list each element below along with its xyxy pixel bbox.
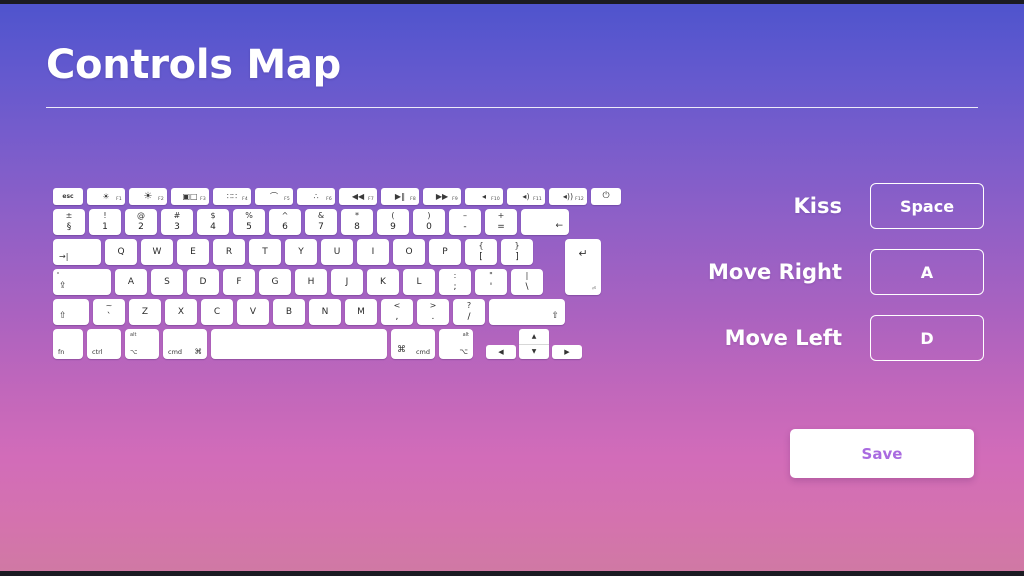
key-f9-label: F9 bbox=[452, 198, 458, 203]
key-f6-label: F6 bbox=[326, 198, 332, 203]
key-bracket-left-upper: { bbox=[478, 242, 483, 250]
key-alt-left[interactable]: alt ⌥ bbox=[125, 329, 159, 359]
key-8[interactable]: * 8 bbox=[341, 209, 373, 235]
key-f4-launchpad[interactable]: ∷∷ F4 bbox=[213, 188, 251, 205]
key-fn[interactable]: fn bbox=[53, 329, 83, 359]
key-alt-right[interactable]: alt ⌥ bbox=[439, 329, 473, 359]
key-f7-label: F7 bbox=[368, 198, 374, 203]
binding-row-move-left: Move Left D bbox=[640, 315, 984, 361]
tab-icon: →| bbox=[59, 253, 68, 261]
key-d-label: D bbox=[200, 278, 207, 287]
key-s-label: S bbox=[164, 278, 170, 287]
key-7-lower: 7 bbox=[318, 223, 324, 232]
keyboard-row-zxcv: ⇧ ~ ` Z X C V B N M < , bbox=[53, 299, 601, 325]
key-f10-mute[interactable]: ◂ F10 bbox=[465, 188, 503, 205]
key-f11-label: F11 bbox=[533, 198, 542, 203]
arrow-right-icon: ▶ bbox=[564, 348, 569, 356]
key-7-upper: & bbox=[318, 212, 324, 220]
key-equals-lower: = bbox=[497, 223, 505, 232]
keyboard-row-numbers: ± § ! 1 @ 2 # 3 bbox=[53, 209, 601, 235]
key-w[interactable]: W bbox=[141, 239, 173, 265]
key-i-label: I bbox=[372, 248, 375, 257]
key-k-label: K bbox=[380, 278, 386, 287]
arrow-down-icon: ▼ bbox=[532, 348, 537, 355]
key-bracket-left-lower: [ bbox=[479, 253, 483, 262]
key-m[interactable]: M bbox=[345, 299, 377, 325]
mute-icon: ◂ bbox=[482, 193, 486, 201]
key-3-upper: # bbox=[174, 212, 181, 220]
key-8-upper: * bbox=[355, 212, 359, 220]
key-n[interactable]: N bbox=[309, 299, 341, 325]
key-period-upper: > bbox=[430, 302, 437, 310]
key-r[interactable]: R bbox=[213, 239, 245, 265]
backspace-icon: ← bbox=[555, 222, 563, 231]
key-q-label: Q bbox=[117, 248, 124, 257]
key-cmd-right-label: cmd bbox=[416, 349, 430, 356]
key-ctrl[interactable]: ctrl bbox=[87, 329, 121, 359]
key-a-label: A bbox=[128, 278, 134, 287]
key-0-lower: 0 bbox=[426, 223, 432, 232]
key-b-label: B bbox=[286, 308, 292, 317]
key-arrow-down[interactable]: ▼ bbox=[519, 345, 549, 360]
key-minus-lower: - bbox=[463, 223, 466, 232]
binding-label-kiss: Kiss bbox=[794, 194, 842, 218]
key-period-lower: . bbox=[432, 313, 435, 322]
key-section-upper: ± bbox=[66, 212, 73, 220]
key-cmd-right[interactable]: ⌘ cmd bbox=[391, 329, 435, 359]
key-semicolon-upper: : bbox=[454, 272, 457, 280]
key-6-upper: ^ bbox=[282, 212, 289, 220]
key-bracket-right-upper: } bbox=[514, 242, 519, 250]
key-bracket-right[interactable]: } ] bbox=[501, 239, 533, 265]
key-j[interactable]: J bbox=[331, 269, 363, 295]
key-semicolon-lower: ; bbox=[453, 283, 456, 292]
keyboard-diagram: esc ☀ F1 ☀ F2 ▣□ F3 bbox=[53, 188, 601, 359]
key-g-label: G bbox=[272, 278, 279, 287]
key-9-lower: 9 bbox=[390, 223, 396, 232]
alt-left-icon: ⌥ bbox=[130, 349, 138, 356]
key-6[interactable]: ^ 6 bbox=[269, 209, 301, 235]
shift-right-icon: ⇧ bbox=[551, 312, 559, 321]
binding-row-move-right: Move Right A bbox=[640, 249, 984, 295]
key-shift-left[interactable]: ⇧ bbox=[53, 299, 89, 325]
key-enter[interactable]: ↵ ⏎ bbox=[565, 239, 601, 295]
key-slash-lower: / bbox=[467, 313, 470, 322]
fast-forward-icon: ▶▶ bbox=[436, 193, 448, 201]
key-k[interactable]: K bbox=[367, 269, 399, 295]
key-3-lower: 3 bbox=[174, 223, 180, 232]
key-a[interactable]: A bbox=[115, 269, 147, 295]
key-j-label: J bbox=[346, 278, 349, 287]
key-ctrl-label: ctrl bbox=[92, 349, 103, 356]
key-2-upper: @ bbox=[137, 212, 145, 220]
volume-down-icon: ◂) bbox=[522, 193, 529, 201]
key-z[interactable]: Z bbox=[129, 299, 161, 325]
key-f1-label: F1 bbox=[116, 198, 122, 203]
keyboard-row-home: ⇪ A S D F G H J K L : ; " ' bbox=[53, 269, 601, 295]
key-minus[interactable]: – - bbox=[449, 209, 481, 235]
arrow-left-icon: ◀ bbox=[498, 348, 503, 356]
key-u[interactable]: U bbox=[321, 239, 353, 265]
key-cmd-left[interactable]: cmd ⌘ bbox=[163, 329, 207, 359]
key-1-lower: 1 bbox=[102, 223, 108, 232]
key-backtick-upper: ~ bbox=[106, 302, 113, 310]
keyboard-row-qwerty: →| Q W E R T Y U I O P { [ } ] bbox=[53, 239, 601, 265]
key-y-label: Y bbox=[298, 248, 304, 257]
key-space[interactable] bbox=[211, 329, 387, 359]
rewind-icon: ◀◀ bbox=[352, 193, 364, 201]
key-9[interactable]: ( 9 bbox=[377, 209, 409, 235]
key-minus-upper: – bbox=[463, 212, 467, 220]
key-f5-keyboard-light-down[interactable]: ⌒ F5 bbox=[255, 188, 293, 205]
key-f9-fast-forward[interactable]: ▶▶ F9 bbox=[423, 188, 461, 205]
key-5[interactable]: % 5 bbox=[233, 209, 265, 235]
key-4[interactable]: $ 4 bbox=[197, 209, 229, 235]
key-e[interactable]: E bbox=[177, 239, 209, 265]
key-l[interactable]: L bbox=[403, 269, 435, 295]
key-quote[interactable]: " ' bbox=[475, 269, 507, 295]
key-shift-right[interactable]: ⇧ bbox=[489, 299, 565, 325]
binding-key-move-left[interactable]: D bbox=[870, 315, 984, 361]
key-z-label: Z bbox=[142, 308, 148, 317]
key-i[interactable]: I bbox=[357, 239, 389, 265]
key-equals[interactable]: + = bbox=[485, 209, 517, 235]
key-backtick-lower: ` bbox=[107, 313, 112, 322]
key-0[interactable]: ) 0 bbox=[413, 209, 445, 235]
key-backtick[interactable]: ~ ` bbox=[93, 299, 125, 325]
key-f12-volume-up[interactable]: ◂)) F12 bbox=[549, 188, 587, 205]
key-equals-upper: + bbox=[498, 212, 505, 220]
key-y[interactable]: Y bbox=[285, 239, 317, 265]
key-5-upper: % bbox=[245, 212, 253, 220]
key-cmd-left-label: cmd bbox=[168, 349, 182, 356]
binding-key-kiss[interactable]: Space bbox=[870, 183, 984, 229]
key-period[interactable]: > . bbox=[417, 299, 449, 325]
alt-right-icon: ⌥ bbox=[459, 348, 468, 356]
keyboard-backlight-high-icon: ∴ bbox=[313, 193, 318, 201]
key-e-label: E bbox=[190, 248, 196, 257]
key-6-lower: 6 bbox=[282, 223, 288, 232]
key-t[interactable]: T bbox=[249, 239, 281, 265]
key-v[interactable]: V bbox=[237, 299, 269, 325]
cmd-right-icon: ⌘ bbox=[397, 346, 406, 355]
key-w-label: W bbox=[153, 248, 162, 257]
brightness-low-icon: ☀ bbox=[102, 193, 109, 201]
key-f2-label: F2 bbox=[158, 198, 164, 203]
key-h[interactable]: H bbox=[295, 269, 327, 295]
key-v-label: V bbox=[250, 308, 256, 317]
power-icon: ⏻ bbox=[602, 192, 609, 201]
key-f5-label: F5 bbox=[284, 198, 290, 203]
key-4-lower: 4 bbox=[210, 223, 216, 232]
key-quote-lower: ' bbox=[490, 283, 492, 292]
shift-left-icon: ⇧ bbox=[59, 312, 67, 321]
key-capslock[interactable]: ⇪ bbox=[53, 269, 111, 295]
keyboard-row-function: esc ☀ F1 ☀ F2 ▣□ F3 bbox=[53, 188, 601, 205]
key-esc[interactable]: esc bbox=[53, 188, 83, 205]
binding-label-move-right: Move Right bbox=[708, 260, 842, 284]
key-arrow-left[interactable]: ◀ bbox=[486, 345, 516, 359]
key-section[interactable]: ± § bbox=[53, 209, 85, 235]
key-f2-brightness-up[interactable]: ☀ F2 bbox=[129, 188, 167, 205]
key-o-label: O bbox=[405, 248, 412, 257]
play-pause-icon: ▶‖ bbox=[395, 193, 405, 201]
key-alt-right-top-label: alt bbox=[463, 333, 469, 338]
key-bracket-right-lower: ] bbox=[515, 253, 519, 262]
key-s[interactable]: S bbox=[151, 269, 183, 295]
key-7[interactable]: & 7 bbox=[305, 209, 337, 235]
key-1[interactable]: ! 1 bbox=[89, 209, 121, 235]
key-backslash-upper: | bbox=[526, 272, 529, 280]
key-section-lower: § bbox=[67, 223, 72, 232]
key-f1-brightness-down[interactable]: ☀ F1 bbox=[87, 188, 125, 205]
key-backslash[interactable]: | \ bbox=[511, 269, 543, 295]
capslock-indicator bbox=[57, 272, 59, 274]
key-1-upper: ! bbox=[103, 212, 106, 220]
letterbox-top bbox=[0, 0, 1024, 4]
brightness-high-icon: ☀ bbox=[144, 192, 153, 202]
mission-control-icon: ▣□ bbox=[182, 193, 197, 201]
page-title: Controls Map bbox=[46, 44, 978, 86]
enter-icon: ↵ bbox=[565, 247, 601, 260]
key-fn-label: fn bbox=[58, 349, 64, 356]
key-f8-play-pause[interactable]: ▶‖ F8 bbox=[381, 188, 419, 205]
key-x[interactable]: X bbox=[165, 299, 197, 325]
key-p-label: P bbox=[442, 248, 447, 257]
key-esc-label: esc bbox=[62, 194, 73, 200]
key-n-label: N bbox=[322, 308, 329, 317]
key-tab[interactable]: →| bbox=[53, 239, 101, 265]
key-c-label: C bbox=[214, 308, 220, 317]
key-f3-label: F3 bbox=[200, 198, 206, 203]
key-8-lower: 8 bbox=[354, 223, 360, 232]
key-p[interactable]: P bbox=[429, 239, 461, 265]
key-f12-label: F12 bbox=[575, 198, 584, 203]
binding-row-kiss: Kiss Space bbox=[640, 183, 984, 229]
binding-key-move-right[interactable]: A bbox=[870, 249, 984, 295]
key-arrow-right[interactable]: ▶ bbox=[552, 345, 582, 359]
key-9-upper: ( bbox=[391, 212, 394, 220]
key-f10-label: F10 bbox=[491, 198, 500, 203]
key-2-lower: 2 bbox=[138, 223, 144, 232]
key-d[interactable]: D bbox=[187, 269, 219, 295]
save-button[interactable]: Save bbox=[790, 429, 974, 478]
arrow-key-cluster: ◀ ▲ ▼ ▶ bbox=[486, 329, 582, 359]
key-semicolon[interactable]: : ; bbox=[439, 269, 471, 295]
key-comma[interactable]: < , bbox=[381, 299, 413, 325]
key-backspace[interactable]: ← bbox=[521, 209, 569, 235]
presentation-slide: Controls Map esc ☀ F1 ☀ F2 bbox=[0, 0, 1024, 576]
key-3[interactable]: # 3 bbox=[161, 209, 193, 235]
key-slash[interactable]: ? / bbox=[453, 299, 485, 325]
key-f-label: F bbox=[236, 278, 241, 287]
key-c[interactable]: C bbox=[201, 299, 233, 325]
key-f6-keyboard-light-up[interactable]: ∴ F6 bbox=[297, 188, 335, 205]
key-f11-volume-down[interactable]: ◂) F11 bbox=[507, 188, 545, 205]
volume-up-icon: ◂)) bbox=[563, 193, 573, 201]
key-l-label: L bbox=[416, 278, 421, 287]
binding-label-move-left: Move Left bbox=[725, 326, 842, 350]
key-power[interactable]: ⏻ bbox=[591, 188, 621, 205]
key-quote-upper: " bbox=[489, 272, 493, 280]
key-r-label: R bbox=[226, 248, 232, 257]
key-5-lower: 5 bbox=[246, 223, 252, 232]
arrow-up-icon: ▲ bbox=[532, 333, 537, 340]
key-f7-rewind[interactable]: ◀◀ F7 bbox=[339, 188, 377, 205]
key-b[interactable]: B bbox=[273, 299, 305, 325]
letterbox-bottom bbox=[0, 571, 1024, 576]
key-comma-upper: < bbox=[394, 302, 401, 310]
key-h-label: H bbox=[308, 278, 315, 287]
capslock-icon: ⇪ bbox=[59, 282, 67, 291]
control-bindings-panel: Kiss Space Move Right A Move Left D bbox=[640, 183, 984, 381]
key-arrow-updown[interactable]: ▲ ▼ bbox=[519, 329, 549, 359]
enter-sub-icon: ⏎ bbox=[592, 286, 596, 292]
key-f8-label: F8 bbox=[410, 198, 416, 203]
key-4-upper: $ bbox=[210, 212, 215, 220]
key-arrow-up[interactable]: ▲ bbox=[519, 329, 549, 345]
key-u-label: U bbox=[334, 248, 341, 257]
key-x-label: X bbox=[178, 308, 184, 317]
key-alt-left-top-label: alt bbox=[130, 333, 136, 338]
key-slash-upper: ? bbox=[467, 302, 471, 310]
slide-header: Controls Map bbox=[46, 44, 978, 108]
key-bracket-left[interactable]: { [ bbox=[465, 239, 497, 265]
keyboard-row-bottom: fn ctrl alt ⌥ cmd ⌘ bbox=[53, 329, 601, 359]
key-0-upper: ) bbox=[427, 212, 430, 220]
key-o[interactable]: O bbox=[393, 239, 425, 265]
title-divider bbox=[46, 107, 978, 108]
key-g[interactable]: G bbox=[259, 269, 291, 295]
key-comma-lower: , bbox=[396, 313, 399, 322]
key-f4-label: F4 bbox=[242, 198, 248, 203]
key-f[interactable]: F bbox=[223, 269, 255, 295]
key-backslash-lower: \ bbox=[525, 283, 528, 292]
keyboard-backlight-low-icon: ⌒ bbox=[270, 193, 278, 201]
key-f3-mission-control[interactable]: ▣□ F3 bbox=[171, 188, 209, 205]
cmd-left-icon: ⌘ bbox=[195, 348, 203, 356]
key-t-label: T bbox=[262, 248, 268, 257]
launchpad-icon: ∷∷ bbox=[227, 193, 237, 201]
key-2[interactable]: @ 2 bbox=[125, 209, 157, 235]
key-m-label: M bbox=[357, 308, 365, 317]
key-q[interactable]: Q bbox=[105, 239, 137, 265]
